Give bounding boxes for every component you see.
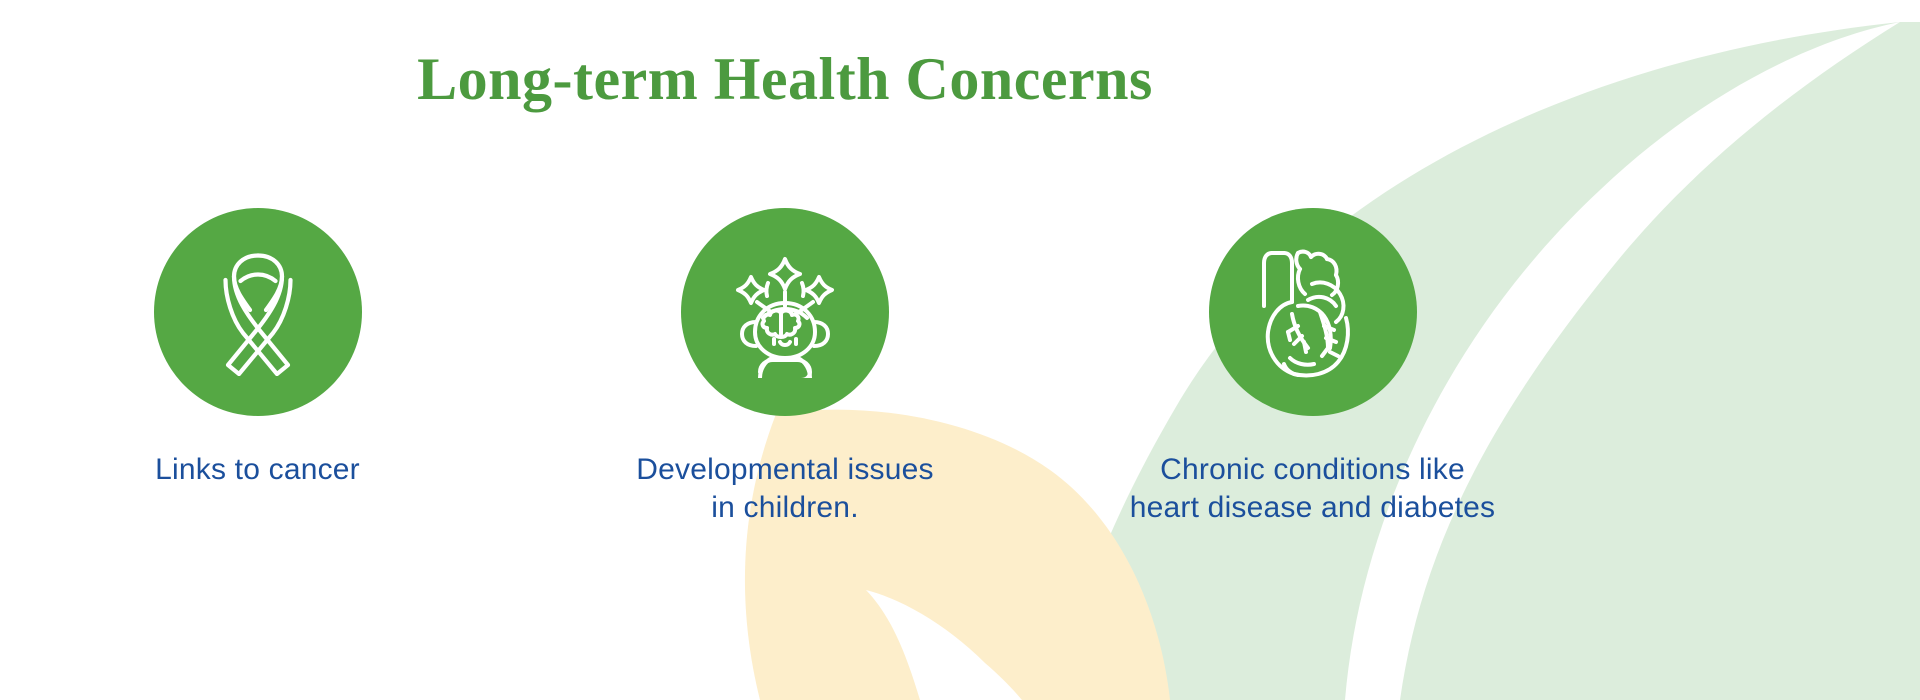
child-brain-development-icon	[719, 246, 851, 378]
infographic-slide: Long-term Health Concerns	[0, 0, 1920, 700]
concern-label-development: Developmental issues in children.	[636, 451, 933, 528]
icon-circle-development	[681, 208, 889, 416]
concern-card-cancer[interactable]: Links to cancer	[0, 208, 515, 489]
concern-card-row: Links to cancer	[0, 208, 1570, 628]
awareness-ribbon-icon	[199, 248, 317, 376]
page-title: Long-term Health Concerns	[0, 48, 1570, 111]
concern-label-cancer: Links to cancer	[155, 451, 360, 489]
concern-label-chronic: Chronic conditions like heart disease an…	[1130, 451, 1495, 528]
icon-circle-cancer	[154, 208, 362, 416]
concern-card-chronic[interactable]: Chronic conditions like heart disease an…	[1055, 208, 1570, 528]
concern-card-development[interactable]: Developmental issues in children.	[528, 208, 1043, 528]
anatomical-heart-icon	[1254, 244, 1372, 380]
icon-circle-chronic	[1209, 208, 1417, 416]
